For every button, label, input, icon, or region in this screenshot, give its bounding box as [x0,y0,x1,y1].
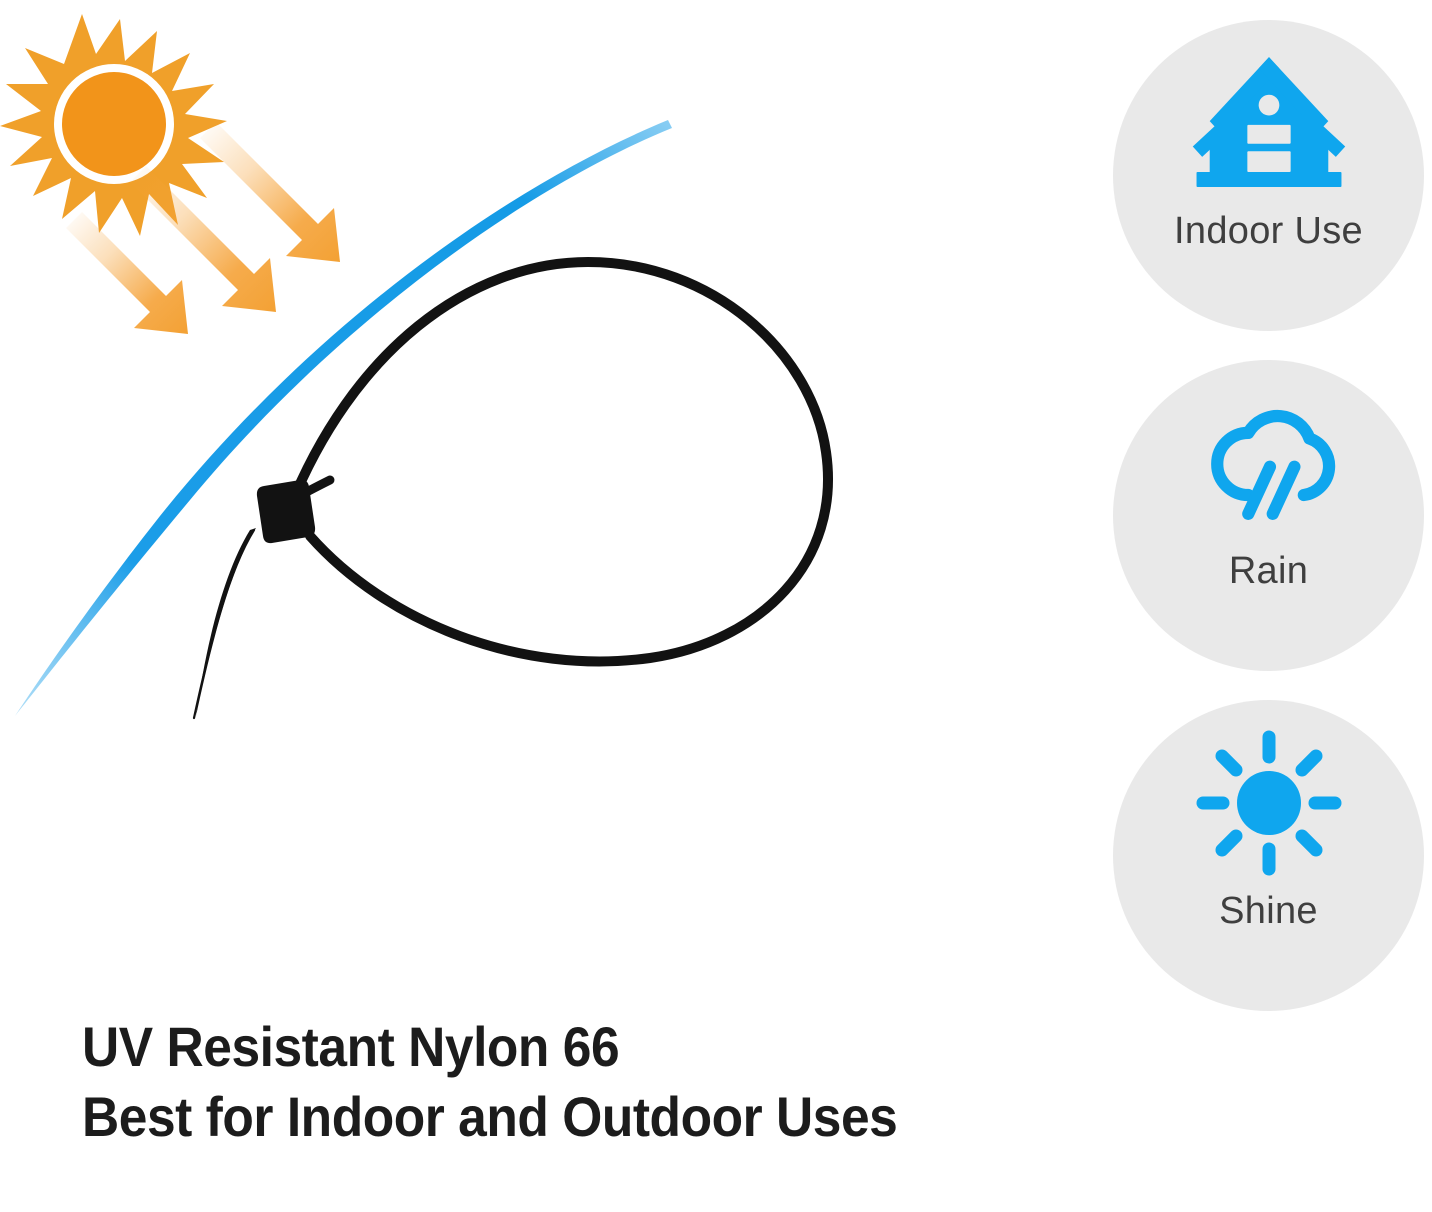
feature-badge-rain[interactable]: Rain [1113,360,1424,671]
feature-label: Indoor Use [1174,212,1363,250]
feature-label: Shine [1219,892,1318,930]
headline-line-2: Best for Indoor and Outdoor Uses [82,1082,1002,1152]
feature-badge-shine[interactable]: Shine [1113,700,1424,1011]
rain-cloud-icon [1189,388,1349,538]
feature-badge-rail: Indoor Use Rain [1113,20,1424,1010]
feature-badge-indoor-use[interactable]: Indoor Use [1113,20,1424,331]
sun-burst-icon [0,14,227,236]
product-infographic: Indoor Use Rain [0,0,1432,1212]
house-icon [1189,48,1349,198]
cable-tie-loop-icon [194,262,828,718]
uv-resistance-illustration [0,0,1060,980]
headline: UV Resistant Nylon 66 Best for Indoor an… [82,1012,1082,1152]
sun-shine-icon [1189,728,1349,878]
headline-line-1: UV Resistant Nylon 66 [82,1012,1002,1082]
feature-label: Rain [1229,552,1308,590]
uv-ray-arrow-icon [66,212,188,334]
